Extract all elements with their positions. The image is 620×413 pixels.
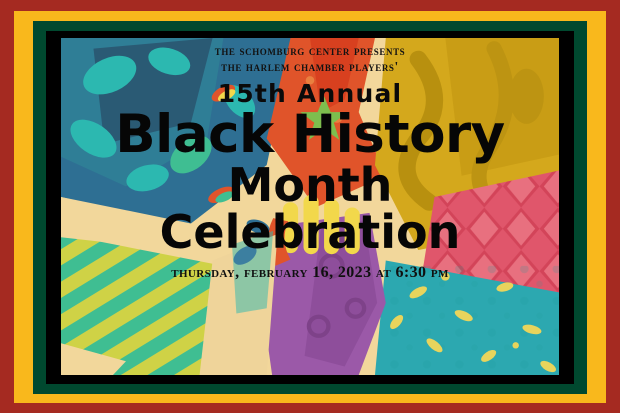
border-black-mat: The Schomburg Center presents The Harlem… [46,31,574,384]
border-green: The Schomburg Center presents The Harlem… [33,21,587,394]
event-poster: The Schomburg Center presents The Harlem… [0,0,620,413]
abstract-collage-illustration [61,38,559,375]
border-gold: The Schomburg Center presents The Harlem… [14,11,606,403]
poster-artwork: The Schomburg Center presents The Harlem… [61,38,559,375]
